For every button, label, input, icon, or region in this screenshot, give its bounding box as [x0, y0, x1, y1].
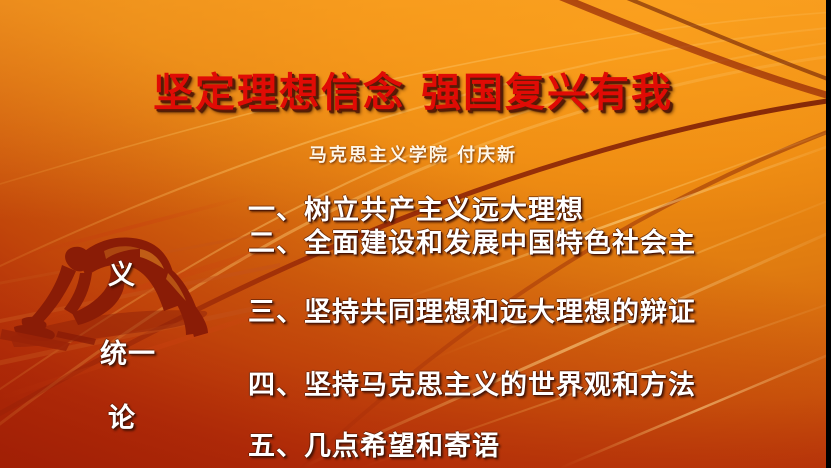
outline-item-2: 二、全面建设和发展中国特色社会主 — [248, 221, 696, 260]
right-edge-band — [826, 0, 831, 468]
outline-item-2-wrap: 义 — [108, 253, 136, 292]
slide-title: 坚定理想信念 强国复兴有我 — [0, 60, 826, 118]
outline-item-5: 五、几点希望和寄语 — [248, 424, 500, 463]
slide-subtitle-author: 马克思主义学院 付庆新 — [0, 141, 826, 167]
outline-item-3: 三、坚持共同理想和远大理想的辩证 — [248, 290, 696, 329]
outline-item-4-wrap: 论 — [108, 396, 136, 435]
outline-item-3-wrap: 统一 — [100, 332, 156, 371]
presentation-slide: 坚定理想信念 强国复兴有我 马克思主义学院 付庆新 一、树立共产主义远大理想 二… — [0, 0, 831, 468]
outline-item-4: 四、坚持马克思主义的世界观和方法 — [248, 363, 696, 402]
